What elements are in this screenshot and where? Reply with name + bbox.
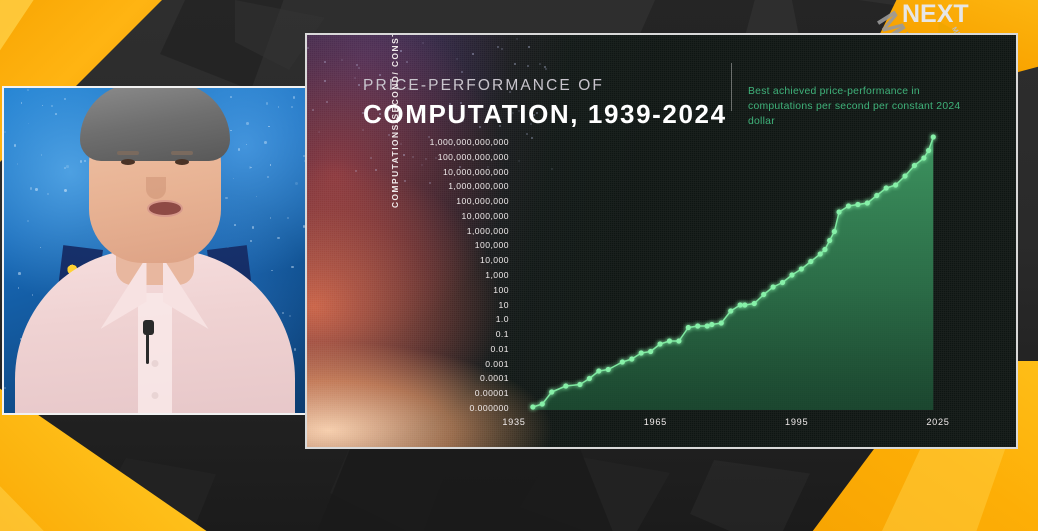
y-axis-tick: 1,000 bbox=[485, 270, 509, 280]
broadcast-stage: NEXT MED MED HEALTH PRICE-PERFORMANCE OF bbox=[0, 0, 1038, 531]
speaker-eye-left bbox=[121, 159, 135, 165]
chart-data-point bbox=[577, 382, 582, 387]
chart-data-point bbox=[884, 185, 889, 190]
chart-data-point bbox=[695, 323, 700, 328]
y-axis-tick: 0.0001 bbox=[480, 373, 509, 383]
chart-data-point bbox=[728, 308, 733, 313]
chart-data-point bbox=[676, 338, 681, 343]
chart-data-point bbox=[818, 251, 823, 256]
y-axis-tick: 0.00001 bbox=[475, 388, 509, 398]
speaker-eyebrow-left bbox=[117, 151, 139, 155]
chart-data-point bbox=[874, 193, 879, 198]
y-axis-tick: 1,000,000,000 bbox=[448, 181, 509, 191]
chart-plot-area bbox=[514, 140, 938, 410]
y-axis-tick: 10,000,000,000 bbox=[443, 167, 509, 177]
y-axis-tick: 1,000,000,000,000 bbox=[430, 137, 509, 147]
chart-data-point bbox=[719, 320, 724, 325]
chart-data-point bbox=[742, 302, 747, 307]
chart-data-point bbox=[761, 292, 766, 297]
chart-data-point bbox=[799, 266, 804, 271]
chart-data-point bbox=[865, 200, 870, 205]
chart-data-point bbox=[587, 376, 592, 381]
y-axis-tick: 0.1 bbox=[496, 329, 509, 339]
chart-data-point bbox=[902, 173, 907, 178]
slide-kicker: PRICE-PERFORMANCE OF bbox=[363, 77, 727, 95]
chart-data-point bbox=[563, 383, 568, 388]
chart-data-point bbox=[808, 259, 813, 264]
chart-data-point bbox=[912, 163, 917, 168]
y-axis-tick: 100,000,000,000 bbox=[438, 152, 509, 162]
chart-data-point bbox=[667, 338, 672, 343]
chart-data-point bbox=[530, 404, 535, 409]
chart-data-point bbox=[752, 301, 757, 306]
speaker-nose bbox=[146, 177, 166, 199]
chart-data-point bbox=[629, 356, 634, 361]
speaker-eyebrow-right bbox=[171, 151, 193, 155]
y-axis-tick: 100,000,000 bbox=[456, 196, 509, 206]
chart-data-point bbox=[827, 238, 832, 243]
y-axis-tick: 100,000 bbox=[475, 240, 509, 250]
x-axis-tick: 2025 bbox=[926, 417, 949, 427]
chart-data-point bbox=[639, 350, 644, 355]
speaker-eye-right bbox=[175, 159, 189, 165]
presentation-slide: PRICE-PERFORMANCE OF COMPUTATION, 1939-2… bbox=[305, 33, 1018, 449]
chart-data-point bbox=[780, 280, 785, 285]
chart-data-point bbox=[855, 202, 860, 207]
y-axis-tick: 0.01 bbox=[490, 344, 509, 354]
chart-data-point bbox=[893, 182, 898, 187]
chart-data-point bbox=[846, 203, 851, 208]
chart-data-point bbox=[822, 247, 827, 252]
speaker-mouth bbox=[147, 200, 183, 217]
chart-data-point bbox=[771, 284, 776, 289]
chart-data-point bbox=[931, 134, 936, 139]
chart-svg bbox=[514, 140, 938, 410]
speaker-video-panel bbox=[2, 86, 307, 415]
y-axis-tick: 100 bbox=[493, 285, 509, 295]
chart-data-point bbox=[606, 367, 611, 372]
y-axis-tick: 0.001 bbox=[485, 359, 509, 369]
chart-data-point bbox=[705, 323, 710, 328]
y-axis-tick-labels: 1,000,000,000,000100,000,000,00010,000,0… bbox=[391, 140, 509, 410]
chart-data-point bbox=[540, 401, 545, 406]
y-axis-tick: 1.0 bbox=[496, 314, 509, 324]
chart-data-point bbox=[921, 155, 926, 160]
x-axis-tick-labels: 1935196519952025 bbox=[514, 417, 938, 433]
shirt-button bbox=[151, 392, 158, 399]
slide-title: COMPUTATION, 1939-2024 bbox=[363, 99, 727, 130]
lapel-microphone-icon bbox=[143, 320, 154, 335]
slide-subnote: Best achieved price-performance in compu… bbox=[748, 85, 980, 129]
y-axis-tick: 10,000 bbox=[480, 255, 509, 265]
y-axis-tick: 0.000000 bbox=[470, 403, 509, 413]
chart-area-fill bbox=[533, 137, 933, 410]
chart-data-point bbox=[832, 229, 837, 234]
chart-data-point bbox=[620, 359, 625, 364]
chart-data-point bbox=[648, 349, 653, 354]
x-axis-tick: 1995 bbox=[785, 417, 808, 427]
speaker-hair bbox=[80, 86, 230, 161]
x-axis-tick: 1965 bbox=[644, 417, 667, 427]
headline-divider bbox=[731, 63, 732, 111]
chart-data-point bbox=[738, 302, 743, 307]
chart-data-point bbox=[709, 322, 714, 327]
chart-data-point bbox=[596, 368, 601, 373]
chart-data-point bbox=[789, 272, 794, 277]
chart-data-point bbox=[926, 148, 931, 153]
chart-data-point bbox=[686, 325, 691, 330]
y-axis-tick: 1,000,000 bbox=[467, 226, 509, 236]
y-axis-tick: 10,000,000 bbox=[461, 211, 509, 221]
slide-headline: PRICE-PERFORMANCE OF COMPUTATION, 1939-2… bbox=[363, 77, 727, 130]
shirt-button bbox=[151, 360, 158, 367]
chart-data-point bbox=[657, 341, 662, 346]
chart-data-point bbox=[836, 209, 841, 214]
x-axis-tick: 1935 bbox=[502, 417, 525, 427]
y-axis-tick: 10 bbox=[499, 300, 509, 310]
chart-data-point bbox=[549, 389, 554, 394]
